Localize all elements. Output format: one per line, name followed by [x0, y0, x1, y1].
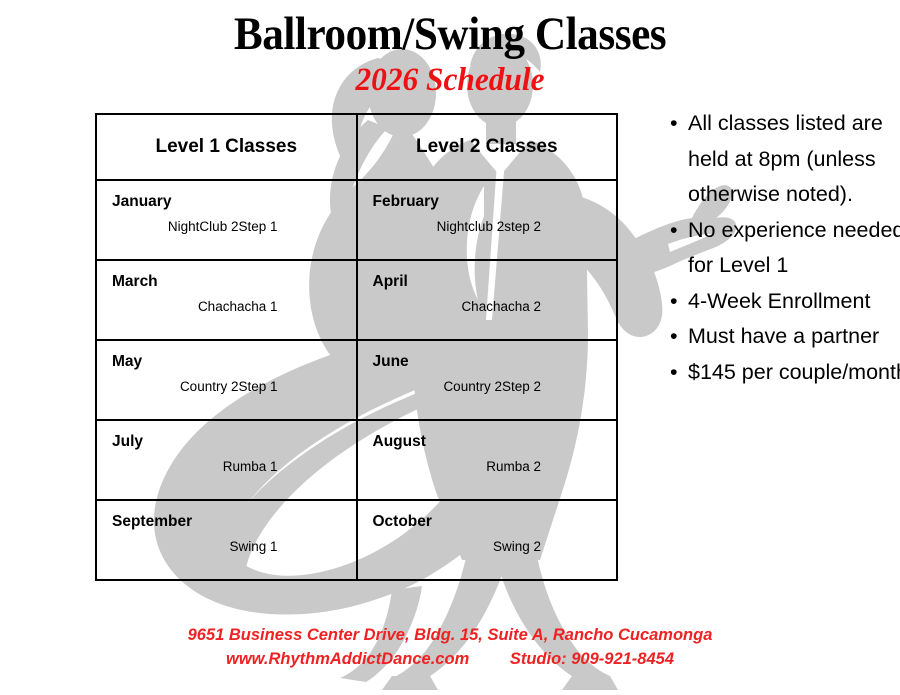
month-label: April [373, 273, 408, 291]
schedule-cell-june: June Country 2Step 2 [357, 340, 618, 420]
footer: 9651 Business Center Drive, Bldg. 15, Su… [0, 624, 900, 670]
month-label: June [373, 353, 409, 371]
list-item-text: All classes listed are held at 8pm (unle… [688, 111, 883, 206]
table-row: May Country 2Step 1 June Country 2Step 2 [96, 340, 617, 420]
bullet-icon: • [670, 319, 678, 355]
month-label: July [112, 433, 143, 451]
month-label: February [373, 193, 439, 211]
dance-label: Country 2Step 1 [180, 379, 278, 394]
list-item: • No experience needed for Level 1 [688, 213, 900, 284]
month-label: March [112, 273, 158, 291]
bullet-icon: • [670, 355, 678, 391]
dance-label: Swing 1 [229, 539, 277, 554]
list-item: • 4-Week Enrollment [688, 284, 900, 320]
class-schedule-table: Level 1 Classes Level 2 Classes January … [95, 113, 618, 581]
schedule-cell-march: March Chachacha 1 [96, 260, 357, 340]
schedule-cell-may: May Country 2Step 1 [96, 340, 357, 420]
page-subtitle: 2026 Schedule [23, 61, 878, 99]
bullet-icon: • [670, 106, 678, 142]
studio-address: 9651 Business Center Drive, Bldg. 15, Su… [0, 624, 900, 646]
bullet-icon: • [670, 213, 678, 249]
list-item-text: Must have a partner [688, 324, 879, 348]
schedule-cell-september: September Swing 1 [96, 500, 357, 580]
column-header-level2: Level 2 Classes [357, 114, 618, 180]
dance-label: Chachacha 1 [198, 299, 278, 314]
flyer-page: Ballroom/Swing Classes 2026 Schedule Lev… [0, 0, 900, 695]
schedule-cell-february: February Nightclub 2step 2 [357, 180, 618, 260]
website-link[interactable]: www.RhythmAddictDance.com [226, 650, 469, 668]
class-notes-list: • All classes listed are held at 8pm (un… [662, 106, 900, 390]
month-label: January [112, 193, 171, 211]
schedule-cell-january: January NightClub 2Step 1 [96, 180, 357, 260]
dance-label: Chachacha 2 [461, 299, 541, 314]
studio-phone: Studio: 909-921-8454 [510, 650, 674, 668]
dance-label: Country 2Step 2 [443, 379, 541, 394]
table-header-row: Level 1 Classes Level 2 Classes [96, 114, 617, 180]
schedule-cell-april: April Chachacha 2 [357, 260, 618, 340]
list-item: • All classes listed are held at 8pm (un… [688, 106, 900, 213]
bullet-icon: • [670, 284, 678, 320]
list-item: • Must have a partner [688, 319, 900, 355]
table-row: January NightClub 2Step 1 February Night… [96, 180, 617, 260]
dance-label: Nightclub 2step 2 [437, 219, 541, 234]
schedule-cell-july: July Rumba 1 [96, 420, 357, 500]
month-label: August [373, 433, 426, 451]
list-item-text: No experience needed for Level 1 [688, 218, 900, 278]
table-row: September Swing 1 October Swing 2 [96, 500, 617, 580]
list-item-text: $145 per couple/month [688, 360, 900, 384]
footer-contact-row: www.RhythmAddictDance.com Studio: 909-92… [0, 648, 900, 670]
month-label: May [112, 353, 142, 371]
list-item-text: 4-Week Enrollment [688, 289, 870, 313]
dance-label: Rumba 2 [486, 459, 541, 474]
dance-label: Rumba 1 [223, 459, 278, 474]
list-item: • $145 per couple/month [688, 355, 900, 391]
schedule-cell-august: August Rumba 2 [357, 420, 618, 500]
column-header-level1: Level 1 Classes [96, 114, 357, 180]
title-block: Ballroom/Swing Classes 2026 Schedule [0, 8, 900, 99]
dance-label: NightClub 2Step 1 [168, 219, 278, 234]
schedule-cell-october: October Swing 2 [357, 500, 618, 580]
table-row: March Chachacha 1 April Chachacha 2 [96, 260, 617, 340]
page-title: Ballroom/Swing Classes [36, 8, 864, 60]
month-label: September [112, 513, 192, 531]
dance-label: Swing 2 [493, 539, 541, 554]
table-row: July Rumba 1 August Rumba 2 [96, 420, 617, 500]
month-label: October [373, 513, 432, 531]
